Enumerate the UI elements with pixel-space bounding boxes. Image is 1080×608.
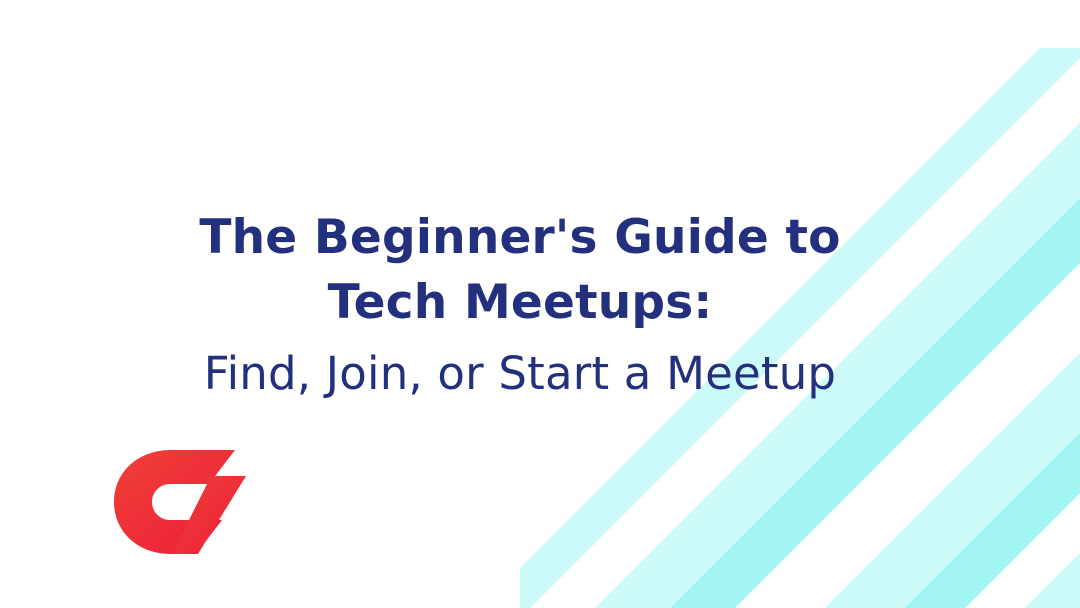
headline-line-2: Tech Meetups: xyxy=(0,271,1040,336)
stripe-bright-1 xyxy=(905,433,1080,608)
page-title: The Beginner's Guide to Tech Meetups: xyxy=(0,206,1040,336)
headline-line-1: The Beginner's Guide to xyxy=(0,206,1040,271)
page-subtitle: Find, Join, or Start a Meetup xyxy=(0,347,1040,401)
g7-logo-mark xyxy=(114,450,246,554)
logo-seven-shape xyxy=(172,476,246,554)
stripe-pale-2 xyxy=(1025,553,1080,608)
title-text-block: The Beginner's Guide to Tech Meetups: Fi… xyxy=(0,206,1040,401)
title-slide: The Beginner's Guide to Tech Meetups: Fi… xyxy=(0,0,1080,608)
g7-logo xyxy=(110,446,250,558)
